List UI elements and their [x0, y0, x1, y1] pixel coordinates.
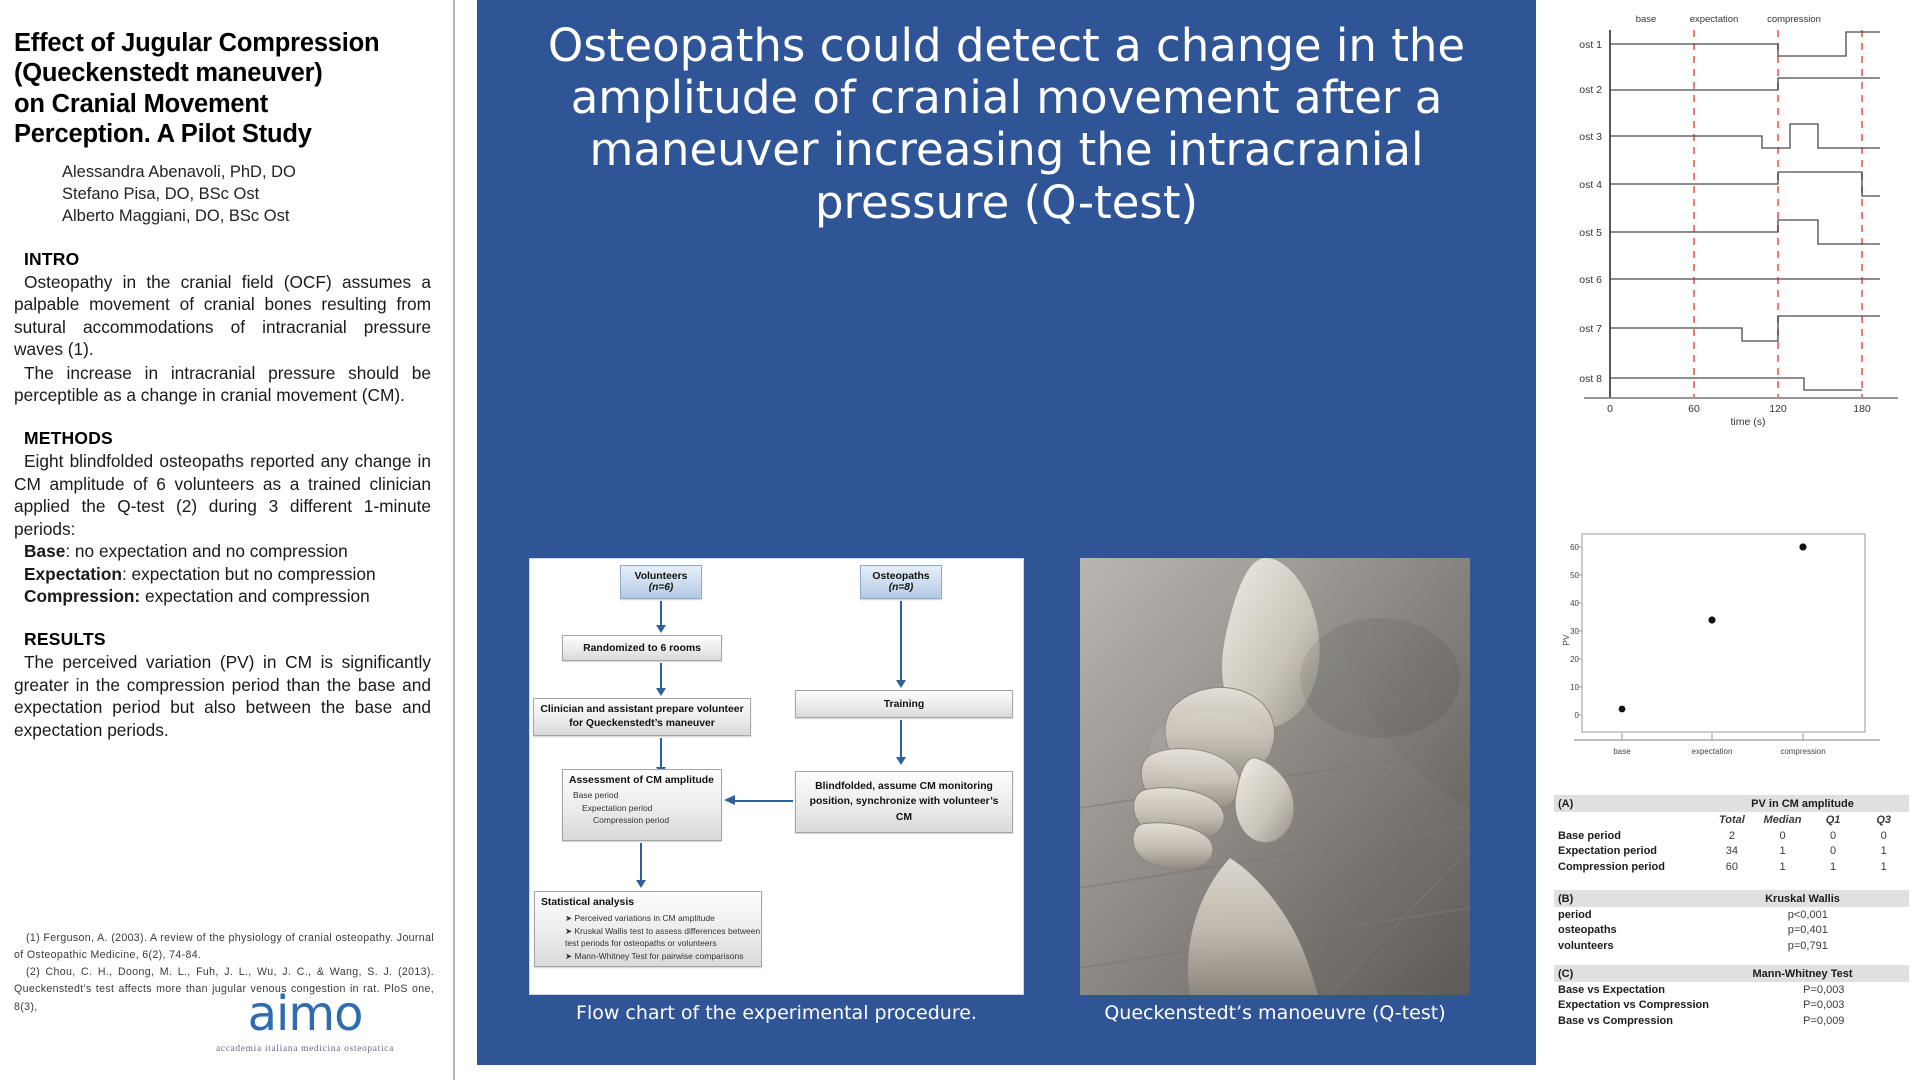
methods-expectation-label: Expectation	[24, 564, 122, 584]
aimo-logo-subtitle: accademia italiana medicina osteopatica	[175, 1044, 435, 1054]
trace-ost-1	[1610, 32, 1880, 56]
section-heading-intro: INTRO	[24, 249, 431, 270]
svg-text:ost 8: ost 8	[1579, 373, 1602, 385]
reference-1: (1) Ferguson, A. (2003). A review of the…	[14, 930, 434, 964]
scatter-point-base	[1619, 706, 1626, 713]
table-a-row-2-v1: 1	[1757, 861, 1808, 873]
table-row: volunteers p=0,791	[1554, 938, 1909, 954]
stats-item-2-text: Mann-Whitney Test for pairwise compariso…	[574, 951, 743, 961]
methods-expectation-text: : expectation but no compression	[122, 564, 376, 584]
trace-ost-4	[1610, 172, 1880, 196]
table-row: Compression period 60 1 1 1	[1554, 859, 1909, 875]
table-b-row-2-label: volunteers	[1554, 940, 1707, 952]
table-a-row-1-v1: 1	[1757, 845, 1808, 857]
table-a-row-2-v3: 1	[1858, 861, 1909, 873]
scatter-plot-frame	[1582, 534, 1865, 732]
flow-arrow-head-4	[896, 680, 906, 688]
svg-text:ost 3: ost 3	[1579, 131, 1602, 143]
svg-text:ost 4: ost 4	[1579, 179, 1602, 191]
scatter-point-expectation	[1708, 616, 1715, 623]
table-row: period p<0,001	[1554, 907, 1909, 923]
table-a-row-2-v2: 1	[1808, 861, 1859, 873]
chart-annotation-base: base	[1636, 14, 1657, 25]
flow-box-training-label: Training	[884, 699, 924, 710]
trace-ost-3	[1610, 124, 1880, 148]
table-row: Expectation period 34 1 0 1	[1554, 844, 1909, 860]
flow-box-clinician: Clinician and assistant prepare voluntee…	[533, 698, 751, 736]
scatter-x-tick-labels: base expectation compression	[1613, 747, 1825, 756]
section-heading-methods: METHODS	[24, 428, 431, 449]
flow-box-assessment-title: Assessment of CM amplitude	[569, 775, 714, 786]
table-row: Base period 2 0 0 0	[1554, 828, 1909, 844]
table-a-row-0-v3: 0	[1858, 830, 1909, 842]
center-blue-panel: Osteopaths could detect a change in the …	[477, 0, 1536, 1065]
assessment-item-0: Base period	[573, 789, 669, 802]
flow-arrow-head-5	[896, 757, 906, 765]
scatter-point-compression	[1799, 543, 1806, 550]
flow-box-statistics-title: Statistical analysis	[541, 897, 634, 908]
svg-text:expectation: expectation	[1692, 747, 1733, 756]
flow-box-randomized: Randomized to 6 rooms	[562, 635, 722, 661]
svg-text:60: 60	[1688, 403, 1700, 415]
flow-arrow-head-2	[656, 688, 666, 696]
flow-arrow-down-3	[660, 738, 662, 768]
trace-ost-2	[1610, 78, 1880, 90]
aimo-logo: aimo accademia italiana medicina osteopa…	[175, 990, 435, 1054]
table-b-row-1-value: p=0,401	[1707, 924, 1909, 936]
table-b-row-0-label: period	[1554, 909, 1707, 921]
stats-item-2: ➤ Mann-Whitney Test for pairwise compari…	[565, 950, 761, 963]
table-a-column-headers: Total Median Q1 Q3	[1554, 812, 1909, 828]
table-a-col-0: Total	[1707, 814, 1758, 826]
methods-compression-text: expectation and compression	[140, 586, 370, 606]
flow-box-training: Training	[795, 690, 1013, 718]
assessment-item-1: Expectation period	[573, 802, 669, 815]
table-c-row-1-label: Expectation vs Compression	[1554, 999, 1739, 1011]
results-table-a: (A) PV in CM amplitude Total Median Q1 Q…	[1554, 795, 1909, 875]
table-c-row-2-label: Base vs Compression	[1554, 1015, 1739, 1027]
flow-arrow-down-5	[900, 720, 902, 758]
trace-ost-7	[1610, 316, 1880, 341]
flow-box-assessment: Assessment of CM amplitude Base period E…	[562, 769, 722, 841]
poster-root: Effect of Jugular Compression (Queckenst…	[0, 0, 1920, 1080]
flow-box-statistics-items: ➤ Perceived variations in CM amplitude ➤…	[541, 912, 761, 962]
flow-box-volunteers: Volunteers (n=6)	[620, 565, 702, 599]
table-c-row-2-value: P=0,009	[1739, 1015, 1909, 1027]
stats-item-1-text: Kruskal Wallis test to assess difference…	[565, 926, 760, 949]
intro-paragraph-1: Osteopathy in the cranial field (OCF) as…	[14, 271, 431, 361]
left-text-column: Effect of Jugular Compression (Queckenst…	[0, 0, 455, 1080]
flow-box-clinician-label: Clinician and assistant prepare voluntee…	[534, 703, 750, 731]
author-list: Alessandra Abenavoli, PhD, DO Stefano Pi…	[62, 162, 431, 227]
svg-text:120: 120	[1769, 403, 1787, 415]
banner-headline: Osteopaths could detect a change in the …	[495, 20, 1518, 229]
table-a-col-1: Median	[1757, 814, 1808, 826]
table-a-row-2-label: Compression period	[1554, 861, 1707, 873]
chart-x-axis-label: time (s)	[1731, 416, 1766, 428]
assessment-item-2: Compression period	[573, 814, 669, 827]
flow-arrow-down-2	[660, 663, 662, 689]
pv-scatter-chart: PV 60 50 40 30 20 10 0	[1560, 528, 1905, 768]
flow-chart-caption: Flow chart of the experimental procedure…	[529, 1002, 1024, 1024]
flow-box-volunteers-label: Volunteers	[635, 571, 688, 582]
table-a-row-0-label: Base period	[1554, 830, 1707, 842]
intro-paragraph-2: The increase in intracranial pressure sh…	[14, 362, 431, 407]
flow-arrow-down-6	[640, 843, 642, 881]
stats-item-0-text: Perceived variations in CM amplitude	[574, 913, 714, 923]
flow-box-statistics: Statistical analysis ➤ Perceived variati…	[534, 891, 762, 967]
results-table-b: (B) Kruskal Wallis period p<0,001 osteop…	[1554, 890, 1909, 954]
flow-arrow-head-7	[636, 880, 646, 888]
chart-annotation-expectation: expectation	[1690, 14, 1739, 25]
table-a-row-2-v0: 60	[1707, 861, 1758, 873]
table-b-id: (B)	[1554, 893, 1696, 905]
table-a-row-0-v1: 0	[1757, 830, 1808, 842]
results-table-c: (C) Mann-Whitney Test Base vs Expectatio…	[1554, 965, 1909, 1029]
svg-text:180: 180	[1853, 403, 1871, 415]
results-paragraph-1: The perceived variation (PV) in CM is si…	[14, 651, 431, 741]
table-a-row-0-v2: 0	[1808, 830, 1859, 842]
chart-row-labels: ost 1 ost 2 ost 3 ost 4 ost 5 ost 6 ost …	[1579, 39, 1602, 385]
trace-ost-8	[1610, 378, 1862, 390]
stats-item-0: ➤ Perceived variations in CM amplitude	[565, 912, 761, 925]
table-a-header: (A) PV in CM amplitude	[1554, 795, 1909, 812]
svg-text:ost 1: ost 1	[1579, 39, 1602, 51]
table-a-col-2: Q1	[1808, 814, 1859, 826]
queckenstedt-photo	[1080, 558, 1470, 995]
methods-base-item: Base: no expectation and no compression	[14, 540, 431, 563]
methods-base-text: : no expectation and no compression	[65, 541, 347, 561]
flow-chart-figure: Volunteers (n=6) Osteopaths (n=8) Random…	[529, 558, 1024, 995]
table-c-row-1-value: P=0,003	[1739, 999, 1909, 1011]
table-c-group-header: Mann-Whitney Test	[1696, 968, 1909, 980]
methods-paragraph-1: Eight blindfolded osteopaths reported an…	[14, 450, 431, 540]
table-c-row-0-value: P=0,003	[1739, 984, 1909, 996]
flow-box-osteopaths-label: Osteopaths	[872, 571, 929, 582]
table-row: Base vs Expectation P=0,003	[1554, 982, 1909, 998]
flow-box-randomized-label: Randomized to 6 rooms	[583, 643, 701, 654]
table-a-col-3: Q3	[1858, 814, 1909, 826]
flow-box-volunteers-n: (n=6)	[649, 582, 674, 593]
right-results-column: base expectation compression 0 60 120 18…	[1542, 0, 1920, 1080]
flow-box-assessment-items: Base period Expectation period Compressi…	[569, 789, 669, 827]
table-a-id: (A)	[1554, 798, 1696, 810]
table-a-row-0-v0: 2	[1707, 830, 1758, 842]
table-c-row-0-label: Base vs Expectation	[1554, 984, 1739, 996]
photo-caption: Queckenstedt’s manoeuvre (Q-test)	[1075, 1002, 1475, 1024]
chart-x-tick-labels: 0 60 120 180	[1607, 403, 1871, 415]
chart-annotation-compression: compression	[1767, 14, 1821, 25]
table-row: Base vs Compression P=0,009	[1554, 1013, 1909, 1029]
flow-box-osteopaths: Osteopaths (n=8)	[860, 565, 942, 599]
flow-arrow-down-1	[660, 601, 662, 626]
table-row: Expectation vs Compression P=0,003	[1554, 998, 1909, 1014]
flow-box-osteopaths-n: (n=8)	[889, 582, 914, 593]
photo-illustration-icon	[1080, 558, 1470, 995]
methods-expectation-item: Expectation: expectation but no compress…	[14, 563, 431, 586]
table-row: osteopaths p=0,401	[1554, 923, 1909, 939]
scatter-x-ticks	[1622, 733, 1803, 740]
flow-box-blindfolded-label: Blindfolded, assume CM monitoring positi…	[796, 779, 1012, 824]
flow-arrow-left-1	[735, 800, 793, 802]
flow-box-blindfolded: Blindfolded, assume CM monitoring positi…	[795, 771, 1013, 833]
table-a-row-1-v2: 0	[1808, 845, 1859, 857]
chart-step-traces	[1610, 32, 1880, 390]
svg-text:ost 2: ost 2	[1579, 84, 1602, 96]
trace-ost-5	[1610, 220, 1880, 244]
svg-text:ost 6: ost 6	[1579, 274, 1602, 286]
table-b-header: (B) Kruskal Wallis	[1554, 890, 1909, 907]
methods-base-label: Base	[24, 541, 65, 561]
flow-arrow-head-6	[724, 795, 735, 805]
page-title: Effect of Jugular Compression (Queckenst…	[14, 28, 431, 149]
osteopath-timeline-chart: base expectation compression 0 60 120 18…	[1550, 8, 1918, 428]
svg-text:ost 7: ost 7	[1579, 323, 1602, 335]
table-a-group-header: PV in CM amplitude	[1696, 798, 1909, 810]
flow-arrow-down-4	[900, 601, 902, 681]
table-a-row-1-v3: 1	[1858, 845, 1909, 857]
flow-arrow-head-1	[656, 625, 666, 633]
table-b-row-0-value: p<0,001	[1707, 909, 1909, 921]
svg-text:compression: compression	[1780, 747, 1825, 756]
stats-item-1: ➤ Kruskal Wallis test to assess differen…	[565, 925, 761, 950]
table-b-row-2-value: p=0,791	[1707, 940, 1909, 952]
table-c-header: (C) Mann-Whitney Test	[1554, 965, 1909, 982]
aimo-wordmark-icon: aimo	[175, 990, 435, 1038]
table-c-id: (C)	[1554, 968, 1696, 980]
svg-text:ost 5: ost 5	[1579, 227, 1602, 239]
table-b-row-1-label: osteopaths	[1554, 924, 1707, 936]
section-heading-results: RESULTS	[24, 629, 431, 650]
svg-text:0: 0	[1607, 403, 1613, 415]
methods-compression-item: Compression: expectation and compression	[14, 585, 431, 608]
methods-compression-label: Compression:	[24, 586, 140, 606]
svg-text:base: base	[1613, 747, 1631, 756]
table-b-group-header: Kruskal Wallis	[1696, 893, 1909, 905]
table-a-row-1-v0: 34	[1707, 845, 1758, 857]
table-a-row-1-label: Expectation period	[1554, 845, 1707, 857]
